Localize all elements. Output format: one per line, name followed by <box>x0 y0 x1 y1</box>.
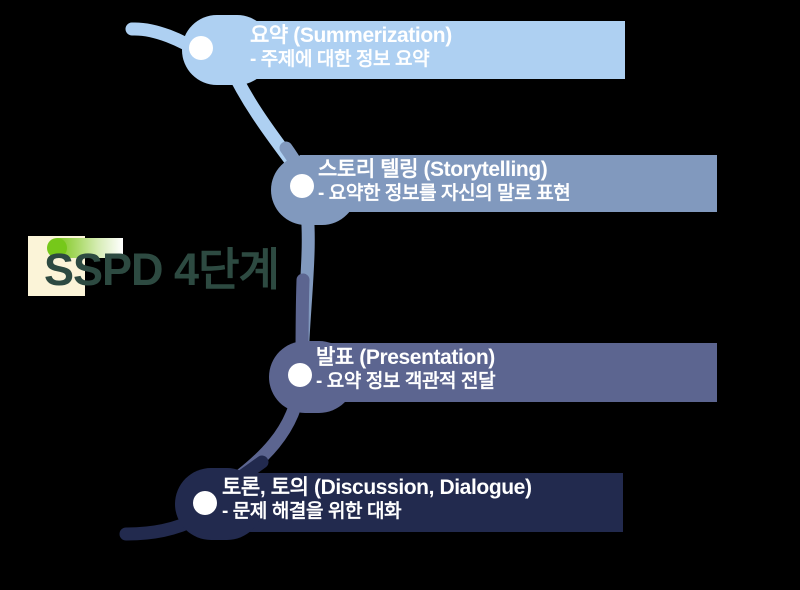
page-title: SSPD 4단계 <box>44 247 279 292</box>
slide-canvas: SSPD 4단계 요약 (Summerization) - 주제에 대한 정보 … <box>0 0 800 590</box>
step-1-marker-dot <box>189 36 213 60</box>
step-1-title: 요약 (Summerization) <box>250 24 452 49</box>
step-4-description: - 문제 해결을 위한 대화 <box>222 501 532 523</box>
step-3-description: - 요약 정보 객관적 전달 <box>316 371 495 393</box>
step-4-marker-dot <box>193 491 217 515</box>
step-2-label: 스토리 텔링 (Storytelling) - 요약한 정보를 자신의 말로 표… <box>318 158 570 205</box>
step-2-title: 스토리 텔링 (Storytelling) <box>318 158 570 183</box>
step-3-marker-dot <box>288 363 312 387</box>
step-3-label: 발표 (Presentation) - 요약 정보 객관적 전달 <box>316 346 495 393</box>
step-1-label: 요약 (Summerization) - 주제에 대한 정보 요약 <box>250 24 452 71</box>
step-3-title: 발표 (Presentation) <box>316 346 495 371</box>
step-4-title: 토론, 토의 (Discussion, Dialogue) <box>222 476 532 501</box>
step-2-description: - 요약한 정보를 자신의 말로 표현 <box>318 183 570 205</box>
step-2-marker-dot <box>290 174 314 198</box>
step-4-label: 토론, 토의 (Discussion, Dialogue) - 문제 해결을 위… <box>222 476 532 523</box>
step-1-description: - 주제에 대한 정보 요약 <box>250 49 452 71</box>
